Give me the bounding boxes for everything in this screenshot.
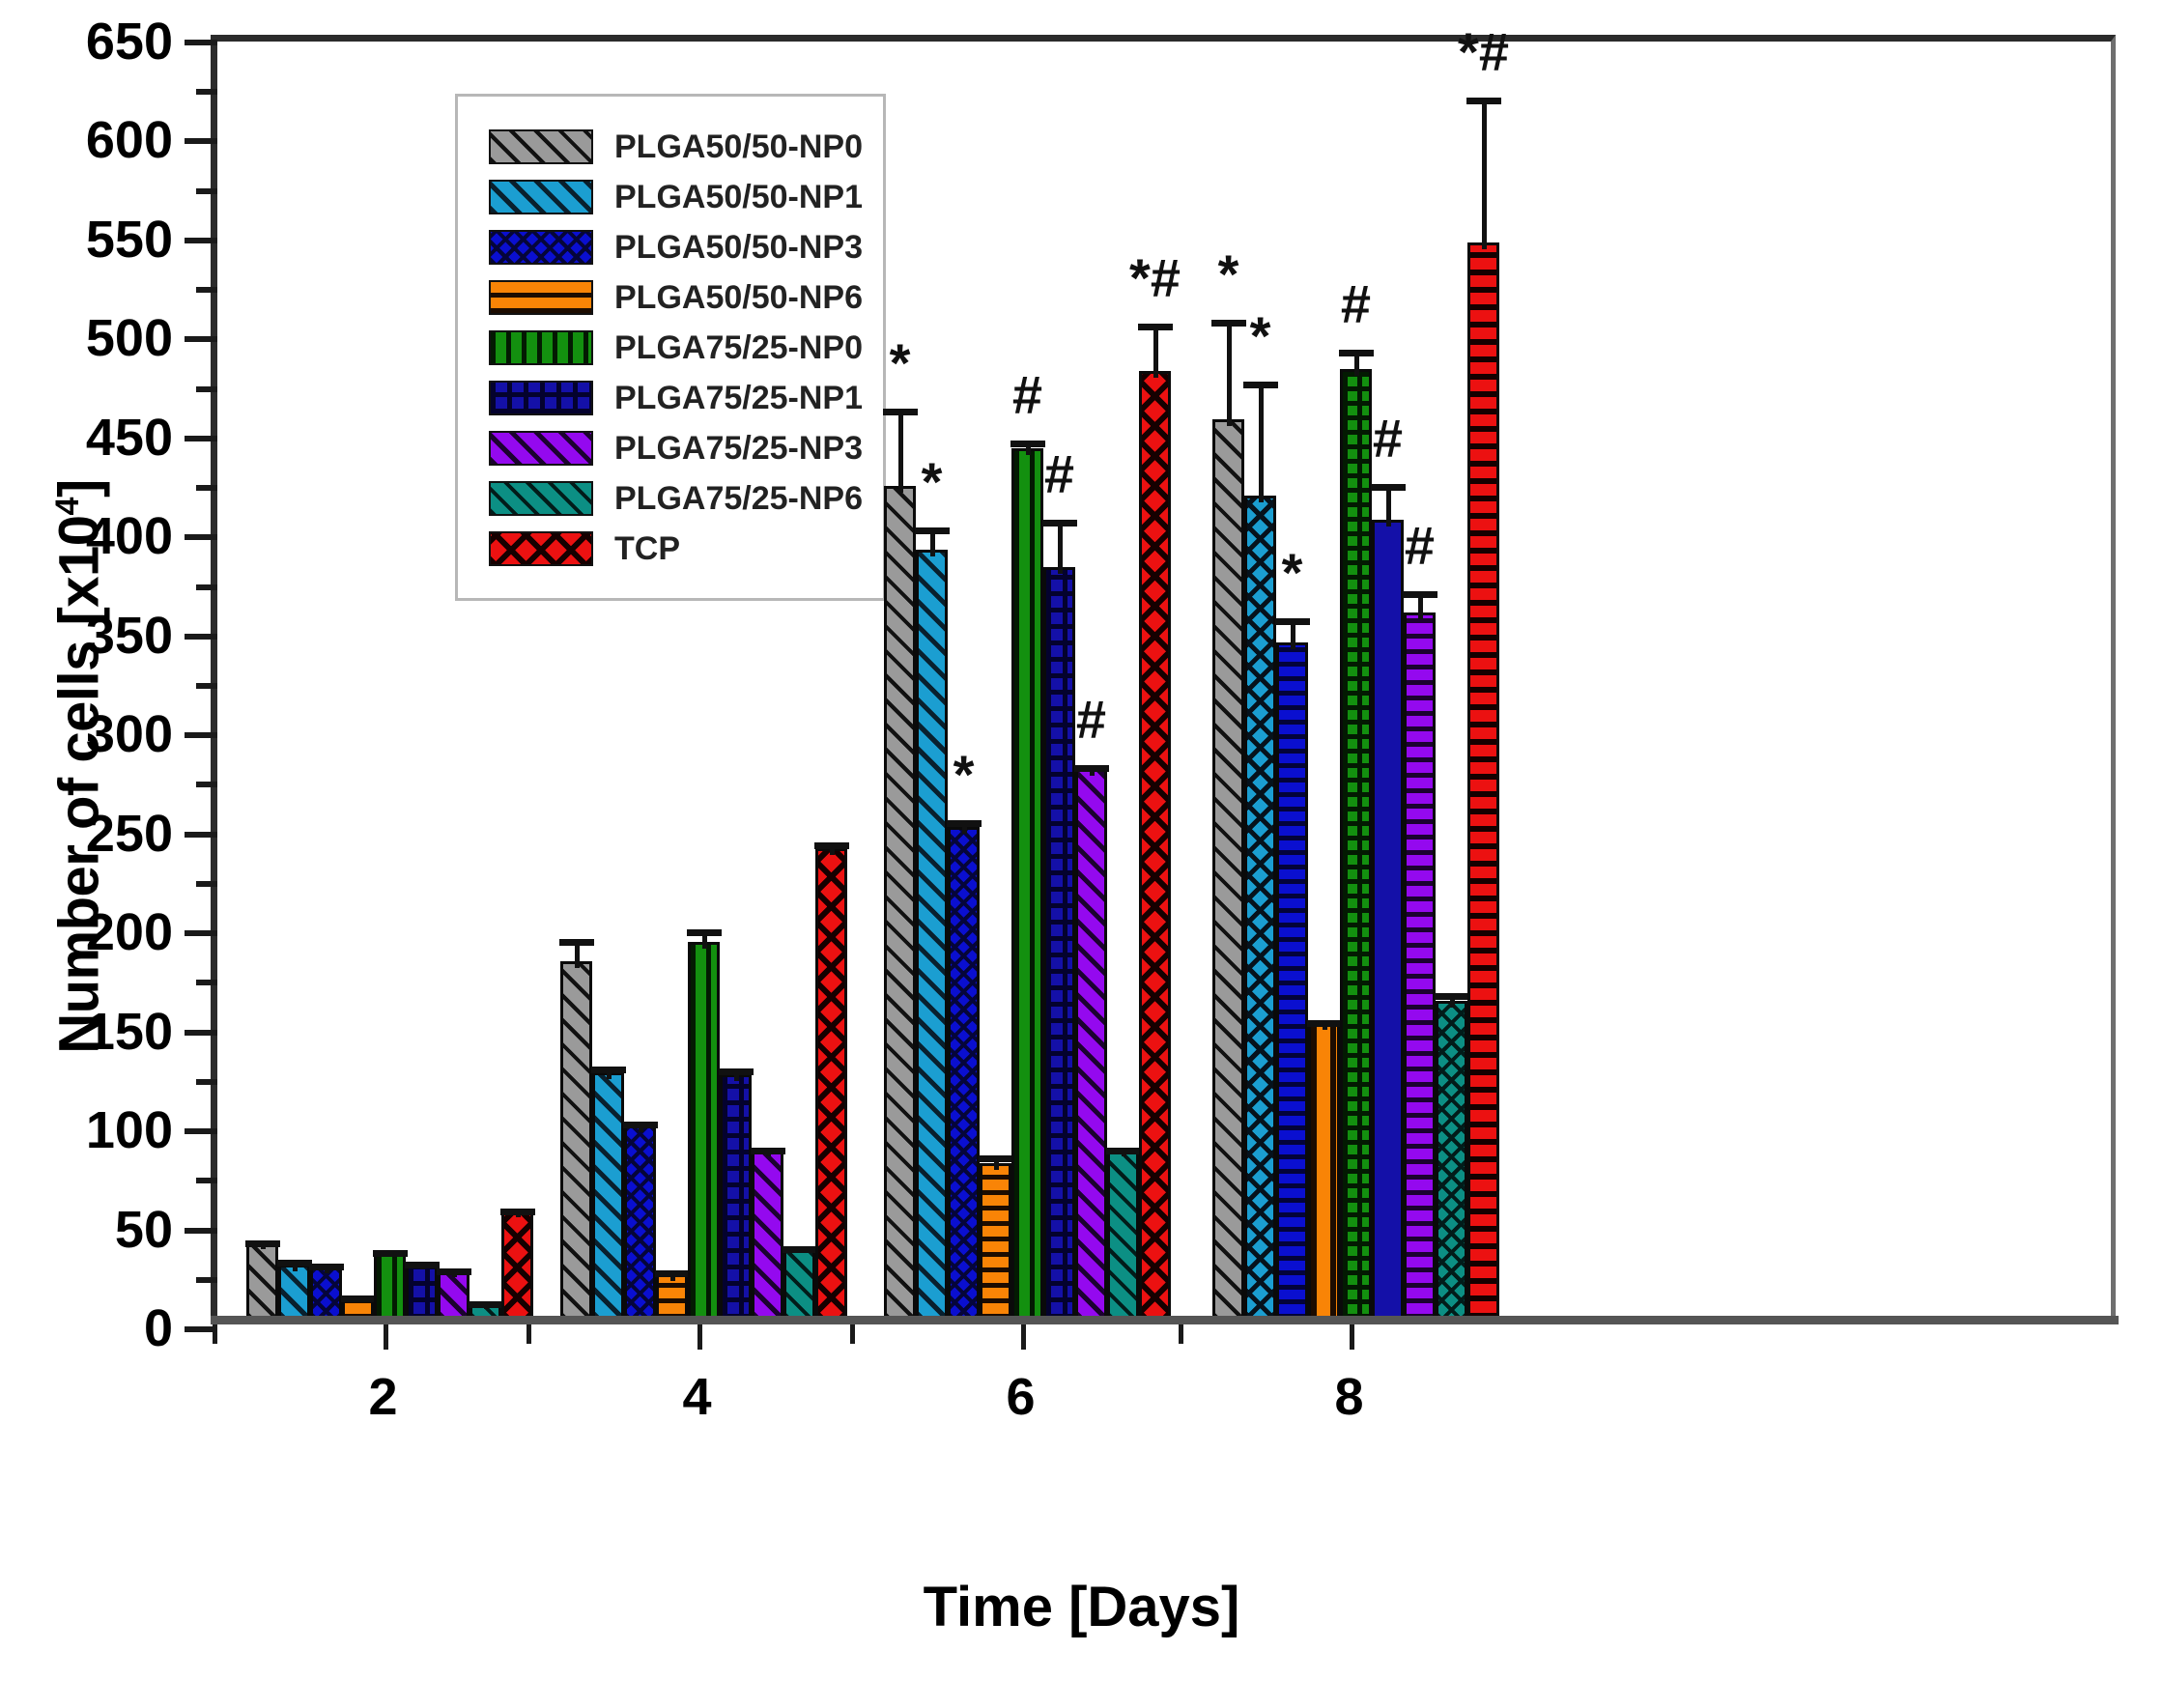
- bar-plga75-25-np0-day4[interactable]: [688, 942, 720, 1322]
- bar-plga75-25-np1-day8[interactable]: [1372, 520, 1404, 1322]
- legend-swatch-plga7525-np3: [489, 431, 593, 466]
- legend: PLGA50/50-NP0 PLGA50/50-NP1 PLGA50/50-NP…: [455, 94, 886, 601]
- bar-plga75-25-np1-day6[interactable]: [1043, 567, 1075, 1322]
- error-bar-cap: [883, 409, 918, 415]
- bar-plga75-25-np3-day8[interactable]: [1404, 612, 1436, 1322]
- error-bar-cap: [437, 1268, 471, 1275]
- y-tick-mark: [196, 1277, 217, 1283]
- significance-marker: #: [975, 368, 1081, 422]
- bar-plga50-50-np0-day6[interactable]: [884, 486, 916, 1322]
- bar-plga50-50-np1-day2[interactable]: [278, 1265, 310, 1322]
- error-bar-cap: [979, 1155, 1013, 1162]
- error-bar-cap: [1403, 591, 1437, 598]
- error-bar-cap: [1339, 350, 1374, 356]
- x-tick-label: 2: [287, 1367, 480, 1427]
- error-bar-cap: [947, 820, 982, 827]
- y-tick-mark: [185, 732, 217, 738]
- x-tick-mark: [697, 1324, 702, 1350]
- x-tick-mark: [1350, 1324, 1354, 1350]
- legend-label: PLGA75/25-NP1: [614, 380, 863, 417]
- y-tick-mark: [185, 1128, 217, 1134]
- error-bar-cap: [245, 1240, 280, 1247]
- bar-plga75-25-np1-day4[interactable]: [720, 1074, 752, 1322]
- error-bar-cap: [469, 1301, 503, 1308]
- y-tick-mark: [185, 40, 217, 45]
- y-tick-label: 200: [0, 902, 173, 962]
- bar-plga75-25-np0-day2[interactable]: [374, 1250, 406, 1322]
- y-tick-mark: [196, 386, 217, 392]
- significance-marker: #: [1367, 519, 1473, 573]
- error-bar-cap: [1435, 993, 1469, 1000]
- y-tick-label: 300: [0, 704, 173, 764]
- legend-item[interactable]: PLGA50/50-NP1: [489, 172, 883, 222]
- bar-tcp-day4[interactable]: [815, 848, 847, 1322]
- legend-label: PLGA50/50-NP3: [614, 229, 863, 267]
- y-tick-mark: [196, 89, 217, 95]
- legend-item[interactable]: PLGA75/25-NP0: [489, 323, 883, 373]
- significance-marker: #: [1335, 412, 1441, 466]
- legend-label: TCP: [614, 530, 680, 568]
- x-tick-label: 8: [1253, 1367, 1446, 1427]
- y-tick-mark: [196, 980, 217, 985]
- error-bar-cap: [915, 527, 950, 534]
- significance-marker: *#: [1431, 25, 1537, 79]
- y-tick-mark: [185, 336, 217, 342]
- x-tick-label: 4: [601, 1367, 794, 1427]
- y-tick-mark: [185, 238, 217, 243]
- x-tick-minor: [527, 1324, 531, 1344]
- bar-plga50-50-np6-day8[interactable]: [1308, 1023, 1340, 1322]
- x-axis-line: [211, 1316, 2119, 1324]
- y-tick-mark: [196, 881, 217, 887]
- x-tick-mark: [1021, 1324, 1026, 1350]
- legend-label: PLGA75/25-NP3: [614, 430, 863, 468]
- bar-plga50-50-np3-day8[interactable]: [1276, 642, 1308, 1322]
- x-axis-title: Time [Days]: [0, 1575, 2163, 1639]
- bar-plga50-50-np6-day4[interactable]: [656, 1274, 688, 1322]
- significance-marker: #: [1039, 693, 1145, 747]
- bar-tcp-day8[interactable]: [1467, 242, 1499, 1322]
- y-tick-mark: [185, 138, 217, 144]
- y-tick-mark: [196, 683, 217, 689]
- y-tick-label: 100: [0, 1100, 173, 1160]
- bar-plga75-25-np3-day2[interactable]: [438, 1270, 470, 1322]
- y-tick-label: 550: [0, 210, 173, 270]
- y-tick-mark: [185, 1030, 217, 1036]
- error-bar: [1291, 621, 1295, 649]
- error-bar-cap: [341, 1295, 376, 1302]
- legend-item[interactable]: PLGA75/25-NP3: [489, 423, 883, 473]
- bar-plga75-25-np6-day8[interactable]: [1436, 1001, 1467, 1322]
- legend-swatch-plga5050-np6: [489, 280, 593, 315]
- bar-plga75-25-np1-day2[interactable]: [406, 1263, 438, 1322]
- x-tick-mark: [384, 1324, 388, 1350]
- y-tick-label: 250: [0, 804, 173, 864]
- legend-label: PLGA50/50-NP0: [614, 128, 863, 166]
- y-tick-label: 0: [0, 1298, 173, 1358]
- error-bar-cap: [814, 842, 849, 849]
- y-tick-mark: [196, 782, 217, 787]
- y-axis-title-main: Number of cells [x10: [48, 515, 111, 1053]
- error-bar-cap: [1138, 324, 1173, 330]
- legend-label: PLGA50/50-NP6: [614, 279, 863, 317]
- x-tick-minor: [1179, 1324, 1183, 1344]
- bar-plga75-25-np0-day8[interactable]: [1340, 369, 1372, 1322]
- y-tick-mark: [185, 832, 217, 838]
- y-tick-label: 650: [0, 12, 173, 71]
- error-bar-cap: [1243, 382, 1278, 388]
- y-tick-mark: [196, 485, 217, 491]
- legend-item[interactable]: PLGA50/50-NP0: [489, 122, 883, 172]
- error-bar: [1058, 523, 1063, 574]
- y-tick-mark: [196, 287, 217, 293]
- bar-plga50-50-np1-day6[interactable]: [916, 550, 948, 1322]
- y-tick-label: 500: [0, 308, 173, 368]
- error-bar-cap: [1074, 765, 1109, 772]
- bar-plga50-50-np3-day6[interactable]: [948, 827, 980, 1322]
- error-bar-cap: [591, 1067, 626, 1073]
- error-bar-cap: [1106, 1148, 1141, 1154]
- significance-marker: *: [1239, 546, 1346, 600]
- bar-plga50-50-np0-day2[interactable]: [246, 1242, 278, 1322]
- y-tick-label: 50: [0, 1200, 173, 1260]
- bar-plga50-50-np6-day6[interactable]: [980, 1163, 1011, 1322]
- bar-plga75-25-np0-day6[interactable]: [1011, 448, 1043, 1322]
- y-tick-mark: [196, 188, 217, 194]
- significance-marker: *: [911, 748, 1017, 802]
- error-bar-cap: [559, 939, 594, 946]
- significance-marker: #: [1303, 277, 1409, 331]
- error-bar: [1482, 100, 1487, 249]
- bar-plga50-50-np3-day2[interactable]: [310, 1267, 342, 1322]
- y-tick-mark: [185, 634, 217, 640]
- bar-plga75-25-np6-day6[interactable]: [1107, 1150, 1139, 1322]
- error-bar-cap: [500, 1209, 535, 1215]
- y-tick-mark: [196, 584, 217, 590]
- legend-item[interactable]: PLGA75/25-NP1: [489, 373, 883, 423]
- y-tick-mark: [185, 436, 217, 441]
- plot-area: PLGA50/50-NP0 PLGA50/50-NP1 PLGA50/50-NP…: [211, 35, 2116, 1322]
- bar-plga75-25-np6-day4[interactable]: [783, 1246, 815, 1322]
- y-tick-mark: [196, 1178, 217, 1183]
- error-bar-cap: [1275, 618, 1310, 625]
- significance-marker: *: [1176, 247, 1282, 301]
- error-bar-cap: [751, 1148, 785, 1154]
- error-bar-cap: [1371, 484, 1406, 491]
- error-bar-cap: [1010, 441, 1045, 447]
- legend-item[interactable]: PLGA50/50-NP3: [489, 222, 883, 272]
- y-tick-mark: [185, 930, 217, 936]
- x-tick-minor: [850, 1324, 855, 1344]
- bar-tcp-day2[interactable]: [501, 1210, 533, 1322]
- legend-swatch-plga7525-np6: [489, 481, 593, 516]
- legend-swatch-plga5050-np3: [489, 230, 593, 265]
- legend-label: PLGA50/50-NP1: [614, 179, 863, 216]
- legend-item[interactable]: TCP: [489, 524, 883, 574]
- legend-swatch-plga7525-np0: [489, 330, 593, 365]
- legend-item[interactable]: PLGA75/25-NP6: [489, 473, 883, 524]
- chart-figure: Number of cells [x104] Time [Days] PLGA5…: [0, 0, 2163, 1708]
- error-bar: [1259, 384, 1264, 503]
- y-tick-mark: [196, 1079, 217, 1085]
- legend-swatch-plga7525-np1: [489, 381, 593, 415]
- error-bar-cap: [1042, 520, 1077, 527]
- significance-marker: *: [879, 455, 985, 509]
- x-tick-minor: [213, 1324, 217, 1344]
- error-bar-cap: [623, 1122, 658, 1128]
- y-tick-label: 150: [0, 1002, 173, 1062]
- y-tick-mark: [185, 1228, 217, 1234]
- bar-plga75-25-np3-day4[interactable]: [752, 1150, 783, 1322]
- bar-plga75-25-np3-day6[interactable]: [1075, 769, 1107, 1322]
- error-bar-cap: [373, 1250, 408, 1257]
- legend-swatch-tcp: [489, 531, 593, 566]
- error-bar: [1153, 327, 1158, 378]
- y-tick-label: 600: [0, 110, 173, 170]
- legend-swatch-plga5050-np1: [489, 180, 593, 214]
- y-axis-title-end: ]: [48, 479, 111, 498]
- bar-plga50-50-np1-day8[interactable]: [1244, 496, 1276, 1322]
- significance-marker: *: [847, 336, 953, 390]
- bar-plga50-50-np3-day4[interactable]: [624, 1125, 656, 1322]
- legend-item[interactable]: PLGA50/50-NP6: [489, 272, 883, 323]
- significance-marker: #: [1007, 447, 1113, 501]
- y-tick-label: 400: [0, 506, 173, 566]
- y-tick-label: 450: [0, 408, 173, 468]
- error-bar-cap: [719, 1068, 754, 1075]
- error-bar-cap: [1307, 1020, 1342, 1027]
- error-bar-cap: [655, 1270, 690, 1277]
- error-bar-cap: [783, 1246, 817, 1253]
- legend-swatch-plga5050-np0: [489, 129, 593, 164]
- y-tick-mark: [185, 534, 217, 540]
- x-tick-label: 6: [925, 1367, 1118, 1427]
- legend-label: PLGA75/25-NP6: [614, 480, 863, 518]
- error-bar-cap: [405, 1262, 440, 1268]
- significance-marker: *: [1208, 309, 1314, 363]
- bar-plga50-50-np0-day4[interactable]: [560, 961, 592, 1322]
- error-bar-cap: [1466, 98, 1501, 104]
- error-bar-cap: [687, 929, 722, 936]
- error-bar-cap: [277, 1260, 312, 1267]
- bar-plga50-50-np1-day4[interactable]: [592, 1072, 624, 1322]
- error-bar-cap: [309, 1264, 344, 1270]
- bar-tcp-day6[interactable]: [1139, 371, 1171, 1322]
- y-tick-label: 350: [0, 606, 173, 666]
- legend-label: PLGA75/25-NP0: [614, 329, 863, 367]
